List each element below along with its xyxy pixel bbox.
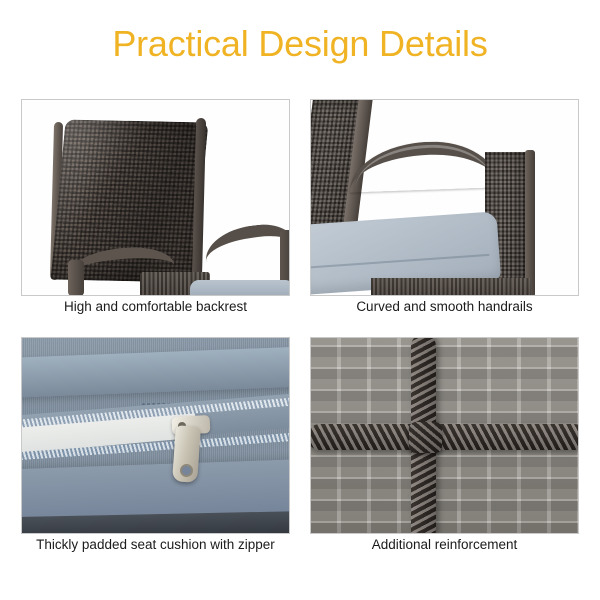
front-leg-edge: [525, 150, 535, 296]
page-title: Practical Design Details: [0, 22, 600, 66]
photo-cushion-zipper: [21, 337, 290, 534]
panel-caption: Curved and smooth handrails: [310, 298, 579, 315]
panel-caption: Additional reinforcement: [310, 536, 579, 553]
panel-caption: Thickly padded seat cushion with zipper: [21, 536, 290, 553]
handrail-highlight: [354, 143, 493, 190]
cushion-top-fold: [21, 346, 290, 397]
seat-base-weave: [371, 278, 531, 296]
detail-panel-grid: High and comfortable backrest Curved and…: [21, 99, 579, 569]
right-armrest: [203, 221, 290, 262]
photo-curved-handrails: [310, 99, 579, 296]
detail-panel-additional-reinforcement: Additional reinforcement: [310, 337, 579, 553]
horizontal-reinforcement-cord: [310, 424, 579, 450]
photo-reinforcement: [310, 337, 579, 534]
product-detail-page: Practical Design Details High and comfor…: [0, 0, 600, 600]
photo-high-backrest: [21, 99, 290, 296]
detail-panel-curved-handrails: Curved and smooth handrails: [310, 99, 579, 315]
reinforcement-cross-knot: [409, 422, 442, 453]
panel-caption: High and comfortable backrest: [21, 298, 290, 315]
detail-panel-high-backrest: High and comfortable backrest: [21, 99, 290, 315]
detail-panel-padded-cushion-zipper: Thickly padded seat cushion with zipper: [21, 337, 290, 553]
seat-cushion: [190, 280, 290, 296]
left-armrest-post: [68, 260, 84, 296]
